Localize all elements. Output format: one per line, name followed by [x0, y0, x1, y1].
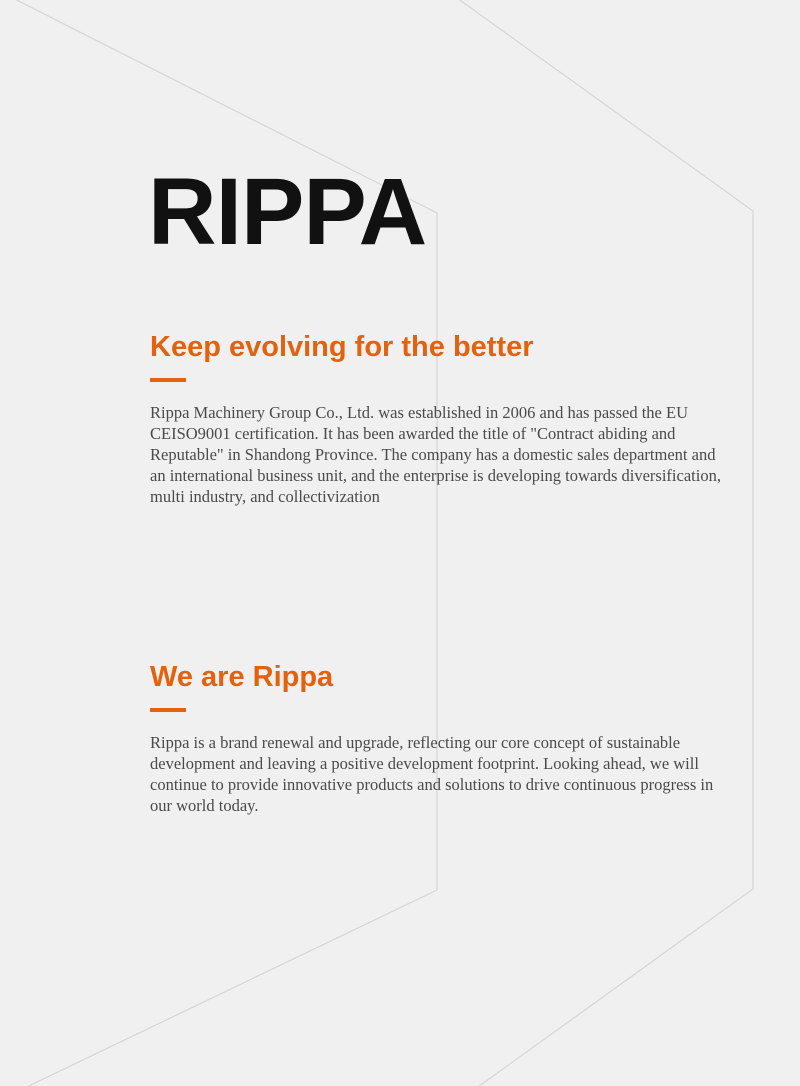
- section-heading-we-are-rippa: We are Rippa: [150, 660, 730, 694]
- brand-page: RIPPA Keep evolving for the better Rippa…: [0, 0, 800, 1086]
- section-heading-keep-evolving: Keep evolving for the better: [150, 330, 730, 364]
- section-we-are-rippa: We are Rippa Rippa is a brand renewal an…: [150, 660, 730, 816]
- brand-wordmark: RIPPA: [148, 165, 426, 260]
- section-body-we-are-rippa: Rippa is a brand renewal and upgrade, re…: [150, 712, 730, 816]
- section-keep-evolving: Keep evolving for the better Rippa Machi…: [150, 330, 730, 507]
- page-content: RIPPA Keep evolving for the better Rippa…: [0, 0, 800, 1086]
- section-body-keep-evolving: Rippa Machinery Group Co., Ltd. was esta…: [150, 382, 730, 507]
